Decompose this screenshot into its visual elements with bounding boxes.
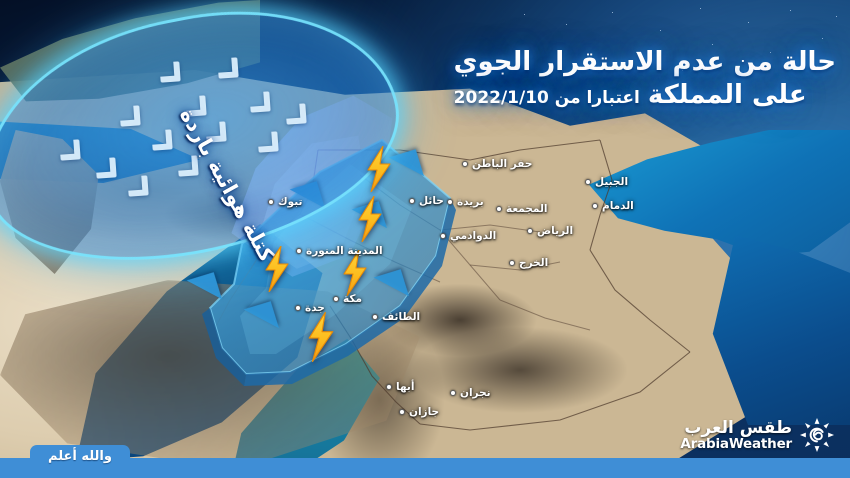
sun-spiral-icon (800, 418, 834, 452)
lightning-bolt-icon (262, 246, 292, 292)
headline-line-2: على المملكة اعتبارا من 2022/1/10 (454, 79, 836, 112)
headline-block: حالة من عدم الاستقرار الجوي على المملكة … (454, 46, 836, 112)
lightning-bolt-icon (364, 146, 394, 192)
cold-front-chevron-icon (217, 57, 238, 78)
cold-front-chevron-icon (177, 155, 198, 176)
headline-date: اعتبارا من 2022/1/10 (454, 88, 640, 109)
cold-front-chevron-icon (257, 131, 278, 152)
lightning-bolt-icon (305, 312, 337, 362)
cold-front-chevron-icon (151, 129, 172, 150)
cold-front-chevron-icon (59, 139, 80, 160)
cold-front-chevron-icon (95, 157, 116, 178)
cold-front-chevron-icon (119, 105, 140, 126)
logo-text-english: ArabiaWeather (680, 437, 792, 452)
lightning-bolt-icon (355, 196, 385, 242)
cold-front-chevron-icon (127, 175, 148, 196)
cold-front-chevron-icon (285, 103, 306, 124)
disclaimer-badge: والله أعلم (30, 445, 130, 469)
cold-front-chevron-icon (159, 61, 180, 82)
headline-line-2-main: على المملكة (648, 79, 807, 112)
arabiaweather-logo[interactable]: طقس العرب ArabiaWeather (680, 418, 834, 452)
lightning-bolt-icon (340, 250, 370, 296)
logo-text-arabic: طقس العرب (680, 419, 792, 437)
weather-map-graphic: كتلة هوائية باردة تبوكحفر الباطنالجبيلال… (0, 0, 850, 478)
headline-line-1: حالة من عدم الاستقرار الجوي (454, 46, 836, 79)
cold-front-chevron-icon (249, 91, 270, 112)
